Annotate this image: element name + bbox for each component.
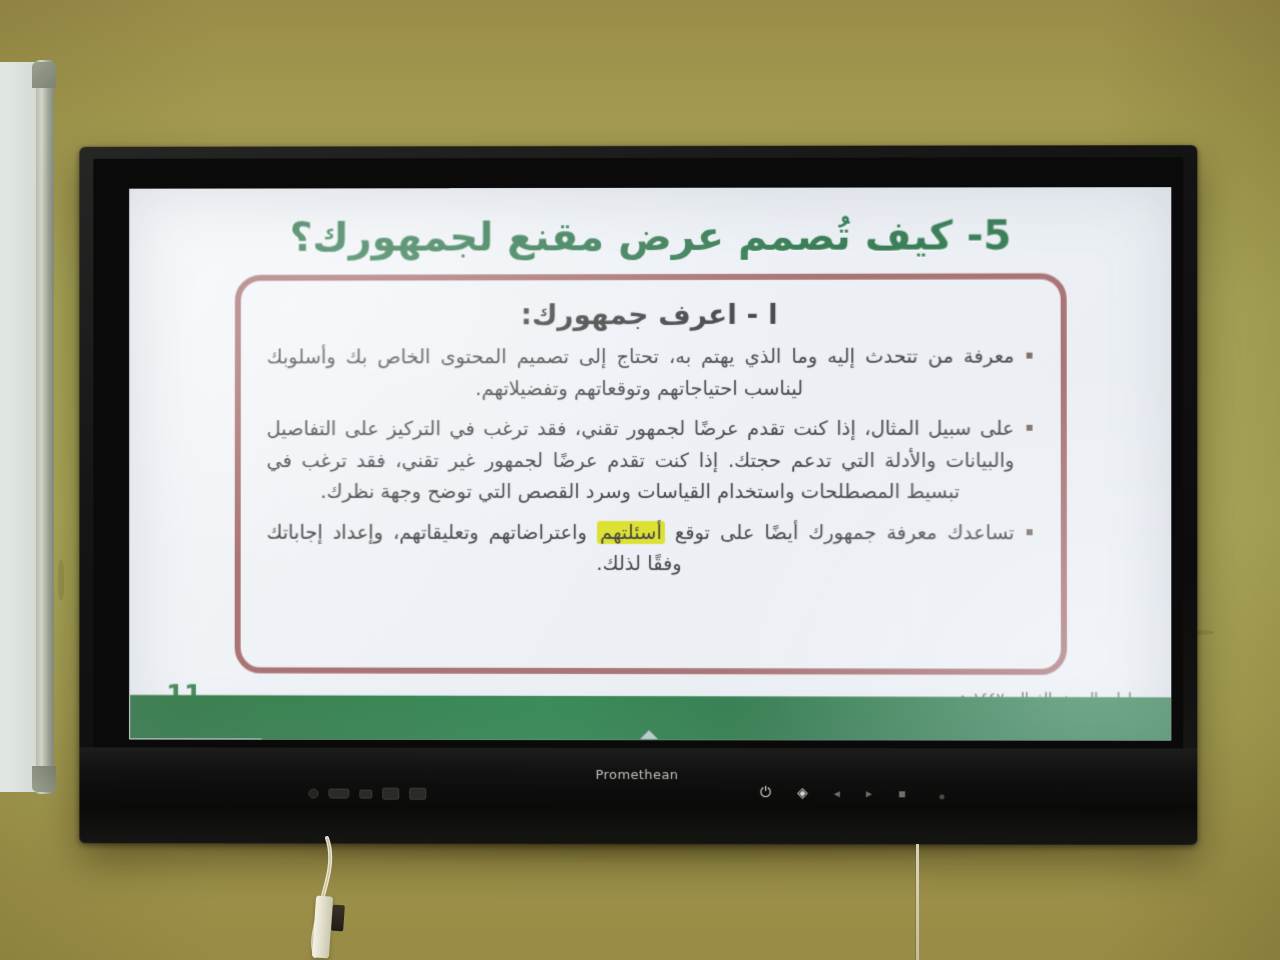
highlighted-term: أسئلتهم bbox=[597, 521, 665, 544]
panel-bottom-bezel: Promethean ⏻ ◈ ◂ ▸ ▪ bbox=[79, 747, 1197, 844]
slide-content-box: ا - اعرف جمهورك: معرفة من تتحدث إليه وما… bbox=[235, 273, 1067, 675]
promethean-brand-label: Promethean bbox=[596, 768, 679, 783]
bullet-text: معرفة من تتحدث إليه وما الذي يهتم به، تح… bbox=[267, 345, 1015, 400]
volume-up-button[interactable]: ▸ bbox=[866, 787, 872, 799]
presentation-slide[interactable]: 5- كيف تُصمم عرض مقنع لجمهورك؟ ا - اعرف … bbox=[131, 187, 1172, 740]
interactive-flat-panel[interactable]: 5- كيف تُصمم عرض مقنع لجمهورك؟ ا - اعرف … bbox=[79, 145, 1197, 845]
slide-bullet-list: معرفة من تتحدث إليه وما الذي يهتم به، تح… bbox=[266, 340, 1034, 580]
port-hdmi[interactable] bbox=[328, 789, 349, 799]
volume-down-button[interactable]: ◂ bbox=[834, 787, 840, 799]
whiteboard-corner-bottom bbox=[32, 766, 56, 792]
chevron-up-icon[interactable] bbox=[640, 730, 658, 739]
power-button[interactable]: ⏻ bbox=[760, 786, 771, 800]
menu-button[interactable]: ▪ bbox=[898, 787, 906, 799]
bullet-example-technical: على سبيل المثال، إذا كنت تقدم عرضًا لجمه… bbox=[267, 413, 1035, 508]
slide-section-heading: ا - اعرف جمهورك: bbox=[267, 297, 1035, 331]
port-usb-small[interactable] bbox=[359, 789, 372, 798]
panel-port-strip[interactable] bbox=[308, 788, 426, 800]
usb-dongle-tip bbox=[331, 905, 345, 932]
port-audio[interactable] bbox=[308, 789, 318, 799]
bullet-anticipate-questions: تساعدك معرفة جمهورك أيضًا على توقع أسئلت… bbox=[266, 517, 1034, 581]
panel-screen[interactable]: 5- كيف تُصمم عرض مقنع لجمهورك؟ ا - اعرف … bbox=[129, 187, 1171, 740]
bullet-text-pre: تساعدك معرفة جمهورك أيضًا على توقع bbox=[665, 521, 1015, 544]
port-usb-a-2[interactable] bbox=[409, 788, 426, 800]
bullet-know-audience: معرفة من تتحدث إليه وما الذي يهتم به، تح… bbox=[267, 340, 1035, 404]
panel-control-buttons[interactable]: ⏻ ◈ ◂ ▸ ▪ bbox=[760, 786, 906, 800]
ir-receiver bbox=[939, 794, 944, 799]
classroom-scene: 5- كيف تُصمم عرض مقنع لجمهورك؟ ا - اعرف … bbox=[0, 0, 1280, 960]
power-cable-right bbox=[916, 844, 919, 960]
port-usb-a-1[interactable] bbox=[382, 788, 399, 800]
slide-title: 5- كيف تُصمم عرض مقنع لجمهورك؟ bbox=[131, 213, 1171, 262]
bullet-text: على سبيل المثال، إذا كنت تقدم عرضًا لجمه… bbox=[267, 417, 1015, 503]
wall-scuff-2 bbox=[58, 560, 64, 600]
brightness-button[interactable]: ◈ bbox=[797, 786, 808, 800]
whiteboard-corner-top bbox=[32, 62, 56, 88]
whiteboard-frame bbox=[36, 60, 54, 794]
